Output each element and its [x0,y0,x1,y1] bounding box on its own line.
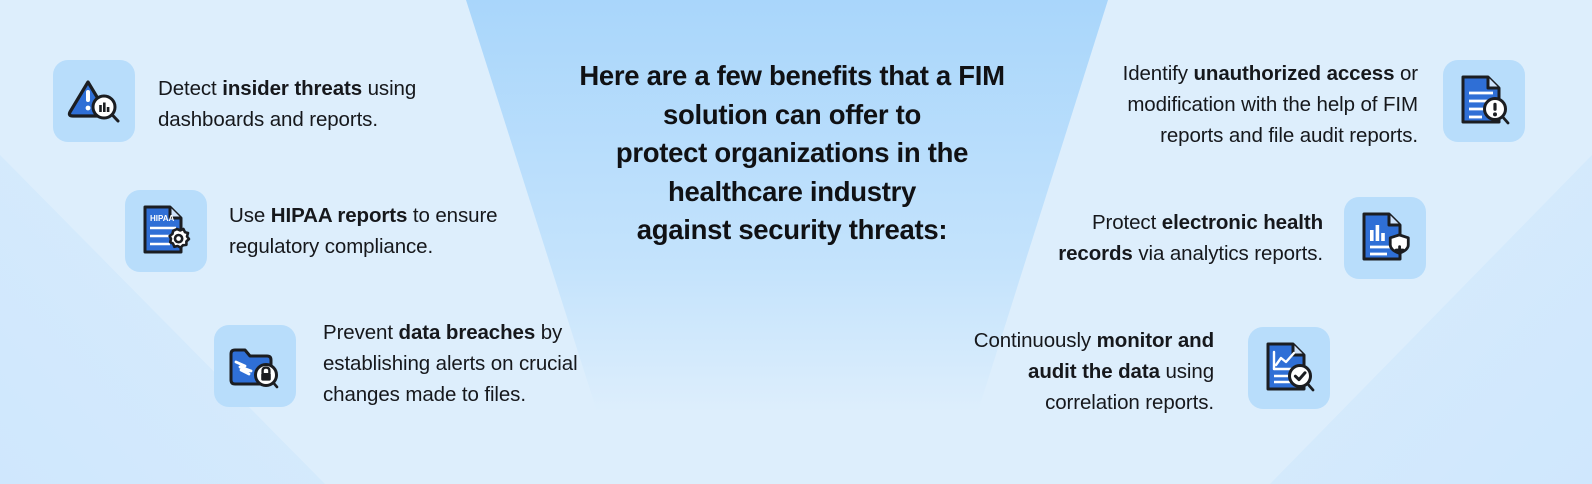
icon-tile-monitor-audit [1248,327,1330,409]
icon-tile-hipaa-reports: HIPAA [125,190,207,272]
text-segment: Protect [1092,211,1162,234]
benefit-text-electronic-health-records: Protect electronic health records via an… [1013,207,1323,269]
benefit-text-data-breaches: Prevent data breaches by establishing al… [323,317,613,410]
headline-line-5: against security threats: [536,211,1048,250]
text-segment: Identify [1123,62,1194,85]
document-alert-search-icon [1458,74,1510,128]
hipaa-icon-label: HIPAA [150,214,175,223]
icon-tile-electronic-health-records [1344,197,1426,279]
headline: Here are a few benefits that a FIM solut… [536,57,1048,250]
text-segment: Continuously [974,329,1097,352]
benefit-text-unauthorized-access: Identify unauthorized access or modifica… [1093,58,1418,151]
document-chart-shield-icon [1359,211,1411,265]
headline-line-4: healthcare industry [536,173,1048,212]
alert-triangle-analytics-icon [66,76,122,126]
benefit-text-monitor-audit: Continuously monitor and audit the data … [952,325,1214,418]
headline-line-1: Here are a few benefits that a FIM [536,57,1048,96]
text-segment: via analytics reports. [1133,242,1323,265]
text-segment: Use [229,204,271,227]
headline-line-3: protect organizations in the [536,134,1048,173]
text-segment-bold: HIPAA reports [271,204,408,227]
text-segment-bold: unauthorized access [1193,62,1394,85]
headline-line-2: solution can offer to [536,96,1048,135]
icon-tile-data-breaches [214,325,296,407]
icon-tile-insider-threats [53,60,135,142]
fim-benefits-infographic: Here are a few benefits that a FIM solut… [0,0,1592,484]
text-segment: Prevent [323,321,399,344]
text-segment-bold: data breaches [399,321,536,344]
text-segment: Detect [158,77,222,100]
icon-tile-unauthorized-access [1443,60,1525,142]
benefit-text-hipaa-reports: Use HIPAA reports to ensure regulatory c… [229,200,529,262]
benefit-text-insider-threats: Detect insider threats using dashboards … [158,73,458,135]
folder-breach-lock-icon [227,342,283,390]
text-segment-bold: insider threats [222,77,362,100]
document-trend-check-search-icon [1263,341,1315,395]
hipaa-document-gear-icon: HIPAA [140,204,192,258]
